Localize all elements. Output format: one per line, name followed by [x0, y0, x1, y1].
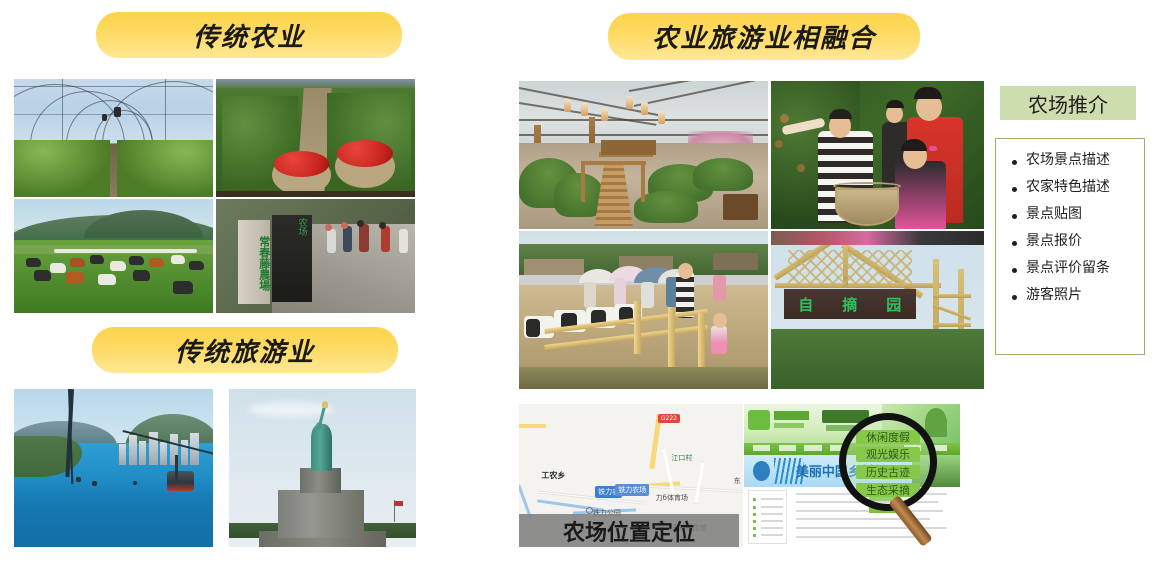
photo-visitors-feeding-cows	[519, 231, 768, 389]
magnifier-item-1: 观光娱乐	[856, 447, 920, 461]
title-traditional-agriculture-label: 传统农业	[193, 17, 305, 54]
photo-children-picking-fruit	[771, 81, 984, 229]
bamboo-gate-sign-board: 自 摘 园	[784, 289, 916, 319]
map-road-badge: G222	[658, 414, 680, 423]
title-traditional-tourism: 传统旅游业	[92, 327, 398, 373]
photo-strawberry-harvest-baskets	[216, 79, 415, 197]
magnifier-lens: 休闲度假 观光娱乐 历史古迹 生态采摘	[839, 413, 937, 511]
promo-item-label: 农场景点描述	[1026, 152, 1110, 168]
promo-panel-box: 农场景点描述 农家特色描述 景点贴图 景点报价 景点评价留条 游客照片	[995, 138, 1145, 355]
promo-panel-header: 农场推介	[1000, 86, 1136, 120]
sign-char-1: 自	[798, 294, 813, 315]
list-item[interactable]: 农家特色描述	[1010, 180, 1138, 194]
list-item[interactable]: 游客照片	[1010, 288, 1138, 302]
magnifier-item-3: 生态采摘	[856, 483, 920, 497]
promo-item-label: 农家特色描述	[1026, 179, 1110, 195]
farm-sign-text: 常春藤農場	[238, 220, 270, 304]
list-item[interactable]: 景点评价留条	[1010, 261, 1138, 275]
title-traditional-agriculture: 传统农业	[96, 12, 402, 58]
promo-panel-list: 农场景点描述 农家特色描述 景点贴图 景点报价 景点评价留条 游客照片	[1010, 153, 1138, 302]
photo-statue-of-liberty	[229, 389, 416, 547]
promo-item-label: 景点评价留条	[1026, 260, 1110, 276]
title-integrated-agritourism: 农业旅游业相融合	[608, 13, 920, 60]
photo-bamboo-gate-sign: 自 摘 园	[771, 231, 984, 389]
caption-farm-location-label: 农场位置定位	[563, 515, 695, 547]
photo-greenhouse-vegetables	[14, 79, 213, 197]
magnifier-item-0: 休闲度假	[856, 430, 920, 444]
map-label-4: 力б体育场	[656, 493, 688, 503]
map-label-east: 东	[734, 476, 741, 486]
list-item[interactable]: 景点报价	[1010, 234, 1138, 248]
photo-cattle-grazing-grassland	[14, 199, 213, 313]
map-label-1: 江口村	[671, 453, 692, 463]
photo-indoor-agritourism-garden	[519, 81, 768, 229]
sign-char-2: 摘	[842, 294, 857, 315]
map-pin-1: 铁力农场	[615, 484, 649, 496]
photo-cable-car-over-bay	[14, 389, 213, 547]
caption-farm-location: 农场位置定位	[519, 514, 739, 547]
promo-item-label: 景点贴图	[1026, 206, 1082, 222]
title-integrated-agritourism-label: 农业旅游业相融合	[652, 18, 876, 55]
magnifier-item-2: 历史古迹	[856, 465, 920, 479]
sign-char-3: 园	[886, 294, 901, 315]
photo-farm-entrance-gate-visitors: 常春藤農場 农场	[216, 199, 415, 313]
promo-item-label: 游客照片	[1026, 287, 1082, 303]
promo-panel-header-label: 农场推介	[1028, 89, 1108, 118]
list-item[interactable]: 景点贴图	[1010, 207, 1138, 221]
photo-rural-tourism-website: 美丽中国乡村行 休闲度假 观光	[744, 404, 960, 547]
map-label-0: 工农乡	[541, 470, 565, 481]
farm-gate-text: 农场	[272, 215, 312, 302]
slide-canvas: 传统农业	[0, 0, 1156, 570]
title-traditional-tourism-label: 传统旅游业	[175, 332, 315, 369]
promo-item-label: 景点报价	[1026, 233, 1082, 249]
list-item[interactable]: 农场景点描述	[1010, 153, 1138, 167]
